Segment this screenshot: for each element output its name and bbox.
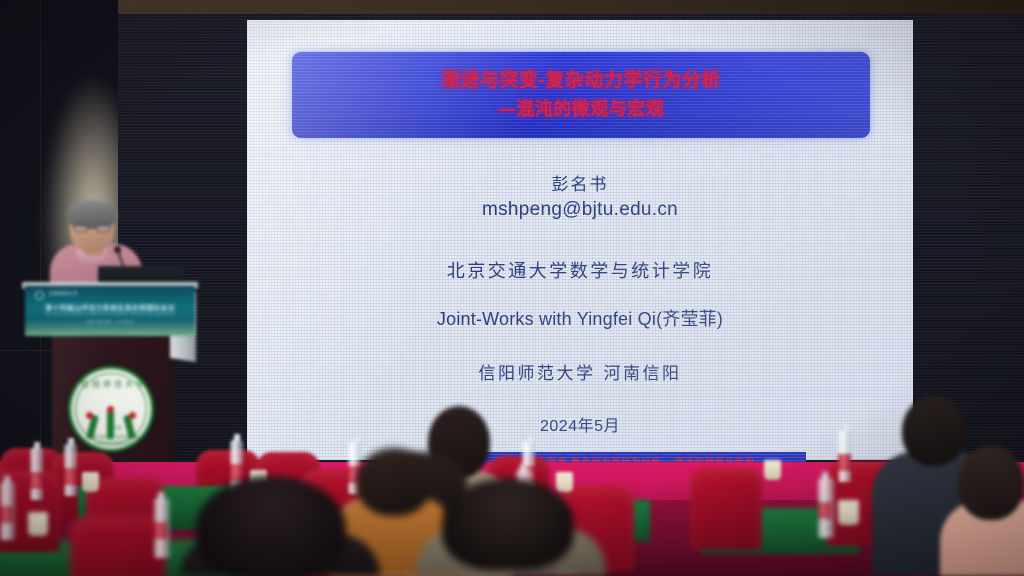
water-bottle [818, 478, 834, 538]
water-bottle [838, 430, 851, 482]
slide-title-banner: 渐进与突变-复杂动力学行为分析 —混沌的微观与宏观 [292, 52, 870, 138]
emblem-chinese-name: 信阳师范大学 [71, 379, 157, 390]
water-bottle [154, 498, 170, 558]
attendee-head [902, 396, 966, 466]
podium-banner-subtitle: The 14th International Conference on Dyn… [33, 312, 187, 316]
water-bottle [0, 482, 15, 540]
paper-cup [838, 500, 859, 525]
slide-date: 2024年5月 [540, 412, 620, 436]
paper-cup [764, 460, 781, 480]
slide-affiliation: 北京交通大学数学与统计学院 [447, 257, 714, 283]
attendee-head [356, 448, 432, 516]
slide-author-name: 彭名书 [552, 170, 609, 195]
speaker-glasses-icon [74, 224, 110, 232]
paper-cup [82, 472, 99, 492]
microphone-head-icon [114, 246, 121, 253]
podium-banner-logo-icon [35, 291, 44, 300]
paper-cup [28, 512, 48, 536]
university-emblem: 信阳师范大学 1975 XINYANG NORMAL UNIVERSITY [68, 366, 154, 452]
paper-cup [556, 472, 573, 492]
audience-chair [70, 516, 166, 576]
water-bottle [64, 444, 77, 496]
attendee-head [442, 478, 574, 570]
podium-banner-logo-text: 信阳师范大学 [49, 291, 78, 297]
slide-joint-works: Joint-Works with Yingfei Qi(齐莹菲) [437, 305, 723, 331]
podium-banner-skyline-graphic [25, 320, 195, 336]
slide-title-line-2: —混沌的微观与宏观 [498, 96, 665, 123]
slide-title-line-1: 渐进与突变-复杂动力学行为分析 [441, 67, 721, 96]
presentation-slide: 渐进与突变-复杂动力学行为分析 —混沌的微观与宏观 彭名书 mshpeng@bj… [247, 20, 913, 460]
ceiling-strip [118, 0, 1024, 14]
emblem-english-name: XINYANG NORMAL UNIVERSITY [71, 435, 157, 447]
attendee-head [958, 446, 1024, 520]
slide-author-email: mshpeng@bjtu.edu.cn [482, 199, 678, 221]
emblem-founding-year: 1975 [71, 426, 157, 432]
water-bottle [30, 448, 43, 500]
audience-chair [690, 468, 762, 550]
slide-host-university: 信阳师范大学 河南信阳 [479, 359, 682, 384]
podium-conference-banner: 信阳师范大学 第十四届山坪动力系统及其应用国际会议 The 14th Inter… [25, 286, 195, 336]
attendee-head [196, 476, 346, 576]
conference-photo-scene: 渐进与突变-复杂动力学行为分析 —混沌的微观与宏观 彭名书 mshpeng@bj… [0, 0, 1024, 576]
slide-body: 彭名书 mshpeng@bjtu.edu.cn 北京交通大学数学与统计学院 Jo… [247, 170, 913, 436]
